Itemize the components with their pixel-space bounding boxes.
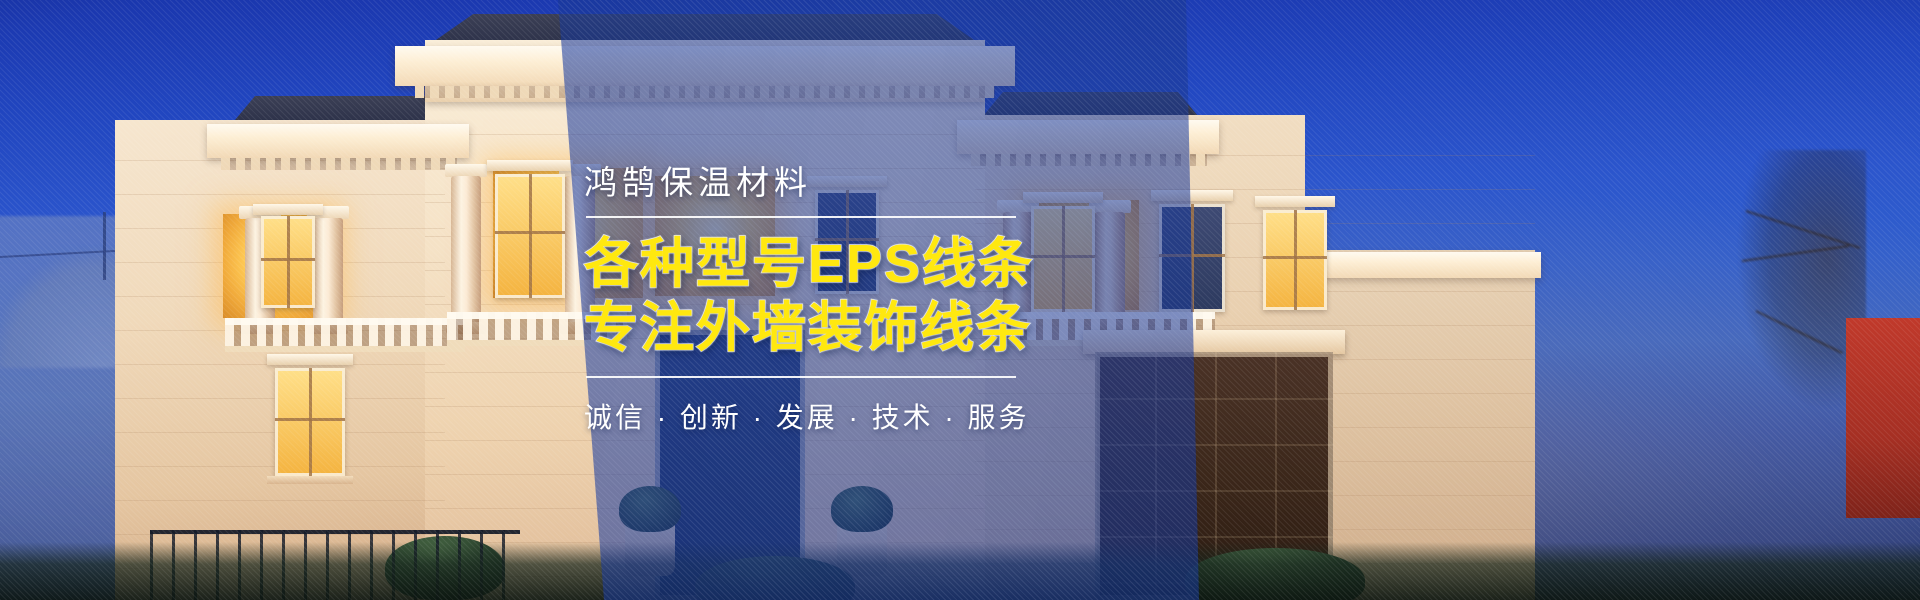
- branch: [1756, 310, 1843, 354]
- window-mullion: [275, 418, 345, 421]
- balustrade-left: [225, 318, 465, 352]
- window-lit-left: [261, 216, 315, 308]
- headline-line-2: 专注外墙装饰线条: [584, 298, 1032, 358]
- tagline: 诚信 · 创新 · 发展 · 技术 · 服务: [584, 396, 1030, 436]
- window-mullion: [309, 368, 312, 476]
- branch: [1742, 245, 1849, 262]
- window-head: [1255, 196, 1335, 207]
- window-lit-far-right: [1263, 210, 1327, 310]
- window-head: [253, 204, 323, 215]
- headline-line-1: 各种型号EPS线条: [584, 234, 1034, 294]
- divider-top: [586, 216, 1016, 218]
- branch: [1746, 210, 1861, 249]
- window-mullion: [261, 258, 315, 261]
- window-mullion: [1294, 210, 1297, 310]
- column-left-2: [313, 218, 343, 326]
- divider-bottom: [586, 376, 1016, 378]
- window-head: [267, 354, 353, 365]
- window-lit-center: [495, 174, 565, 298]
- window-sill: [267, 476, 353, 484]
- window-mullion: [529, 174, 532, 298]
- window-mullion: [495, 231, 565, 234]
- window-mullion: [1263, 256, 1327, 259]
- dentil-course-left: [221, 158, 457, 170]
- column-center-1: [451, 176, 481, 326]
- cornice-left: [207, 124, 469, 158]
- banner-content: 鸿鹄保温材料 各种型号EPS线条 专注外墙装饰线条 诚信 · 创新 · 发展 ·…: [556, 0, 1196, 600]
- window-mullion: [287, 216, 290, 308]
- hero-banner: 鸿鹄保温材料 各种型号EPS线条 专注外墙装饰线条 诚信 · 创新 · 发展 ·…: [0, 0, 1920, 600]
- brand-name: 鸿鹄保温材料: [584, 164, 812, 202]
- window-lower-left: [275, 368, 345, 476]
- red-container: [1846, 318, 1920, 518]
